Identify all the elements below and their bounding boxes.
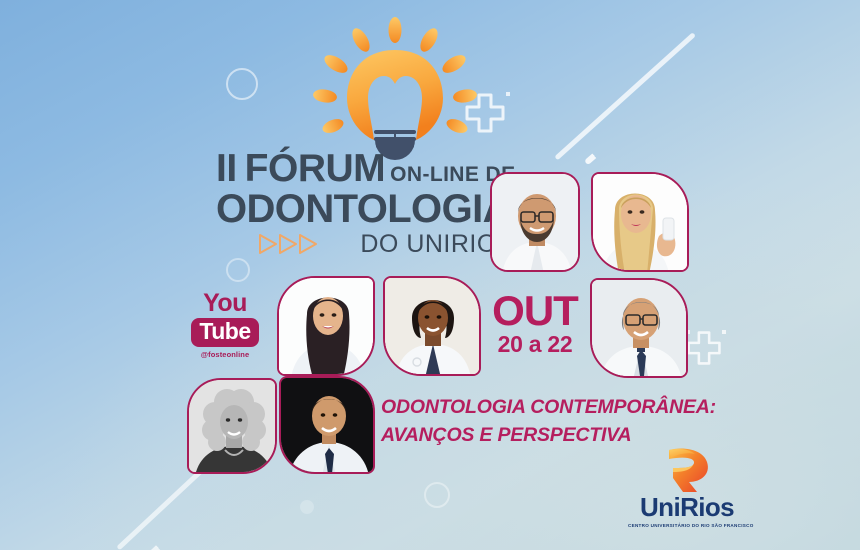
decorative-diagonal-dashes-1 xyxy=(584,23,746,165)
decorative-ring-mid-left xyxy=(226,258,250,282)
speaker-portrait-4 xyxy=(385,278,481,376)
speaker-photo-7-image xyxy=(281,378,373,472)
youtube-handle: @fosteonline xyxy=(190,350,260,359)
youtube-word-tube: Tube xyxy=(191,318,258,347)
speaker-portrait-3 xyxy=(279,278,375,376)
youtube-badge[interactable]: You Tube @fosteonline xyxy=(190,292,260,359)
decorative-arrows xyxy=(258,232,322,256)
decorative-ring-bottom xyxy=(424,482,450,508)
decorative-ring-top-left xyxy=(226,68,258,100)
speaker-photo-4 xyxy=(383,276,481,376)
speaker-photo-2 xyxy=(591,172,689,272)
speaker-photo-3-image xyxy=(279,278,373,374)
decorative-dot-left xyxy=(300,500,314,514)
unirios-tagline: CENTRO UNIVERSITÁRIO DO RIO SÃO FRANCISC… xyxy=(628,523,746,528)
unirios-wordmark: UniRios xyxy=(628,494,746,520)
speaker-photo-5 xyxy=(590,278,688,378)
plus-icon-right-glyph xyxy=(686,330,722,366)
event-date: OUT 20 a 22 xyxy=(487,292,583,356)
unirios-logo: UniRios CENTRO UNIVERSITÁRIO DO RIO SÃO … xyxy=(628,446,746,528)
speaker-photo-5-image xyxy=(592,280,686,376)
speaker-photo-4-image xyxy=(385,278,479,374)
triple-chevron-icon xyxy=(258,232,322,256)
event-theme: ODONTOLOGIA CONTEMPORÂNEA: AVANÇOS E PER… xyxy=(381,394,741,449)
event-theme-line-1: ODONTOLOGIA CONTEMPORÂNEA: xyxy=(381,394,741,422)
speaker-photo-1 xyxy=(490,172,580,272)
headline-forum: FÓRUM xyxy=(245,150,385,188)
speaker-portrait-1 xyxy=(492,174,580,272)
headline-number: II xyxy=(216,150,237,188)
lightbulb-tooth-logo xyxy=(300,14,490,164)
speaker-photo-7 xyxy=(279,376,375,474)
unirios-mark-icon xyxy=(657,446,717,492)
event-date-days: 20 a 22 xyxy=(487,332,583,356)
speaker-photo-1-image xyxy=(492,174,578,270)
speaker-portrait-6 xyxy=(189,380,277,474)
speaker-portrait-2 xyxy=(593,174,689,272)
speaker-photo-3 xyxy=(277,276,375,376)
headline-line-forum: II FÓRUM ON-LINE DE xyxy=(216,150,516,188)
lightbulb-tooth-logo-glyph xyxy=(300,14,490,164)
decorative-diagonal-line-1 xyxy=(554,32,696,160)
event-date-month: OUT xyxy=(487,292,583,331)
speaker-portrait-5 xyxy=(592,280,688,378)
plus-icon-right xyxy=(686,330,722,366)
speaker-photo-6 xyxy=(187,378,277,474)
headline-subject: ODONTOLOGIA xyxy=(216,189,516,230)
youtube-word-you: You xyxy=(190,292,260,316)
speaker-photo-6-image xyxy=(189,380,275,472)
event-banner: II FÓRUM ON-LINE DE ODONTOLOGIA DO UNIRI… xyxy=(0,0,860,550)
speaker-photo-2-image xyxy=(593,174,687,270)
speaker-portrait-7 xyxy=(281,378,375,474)
